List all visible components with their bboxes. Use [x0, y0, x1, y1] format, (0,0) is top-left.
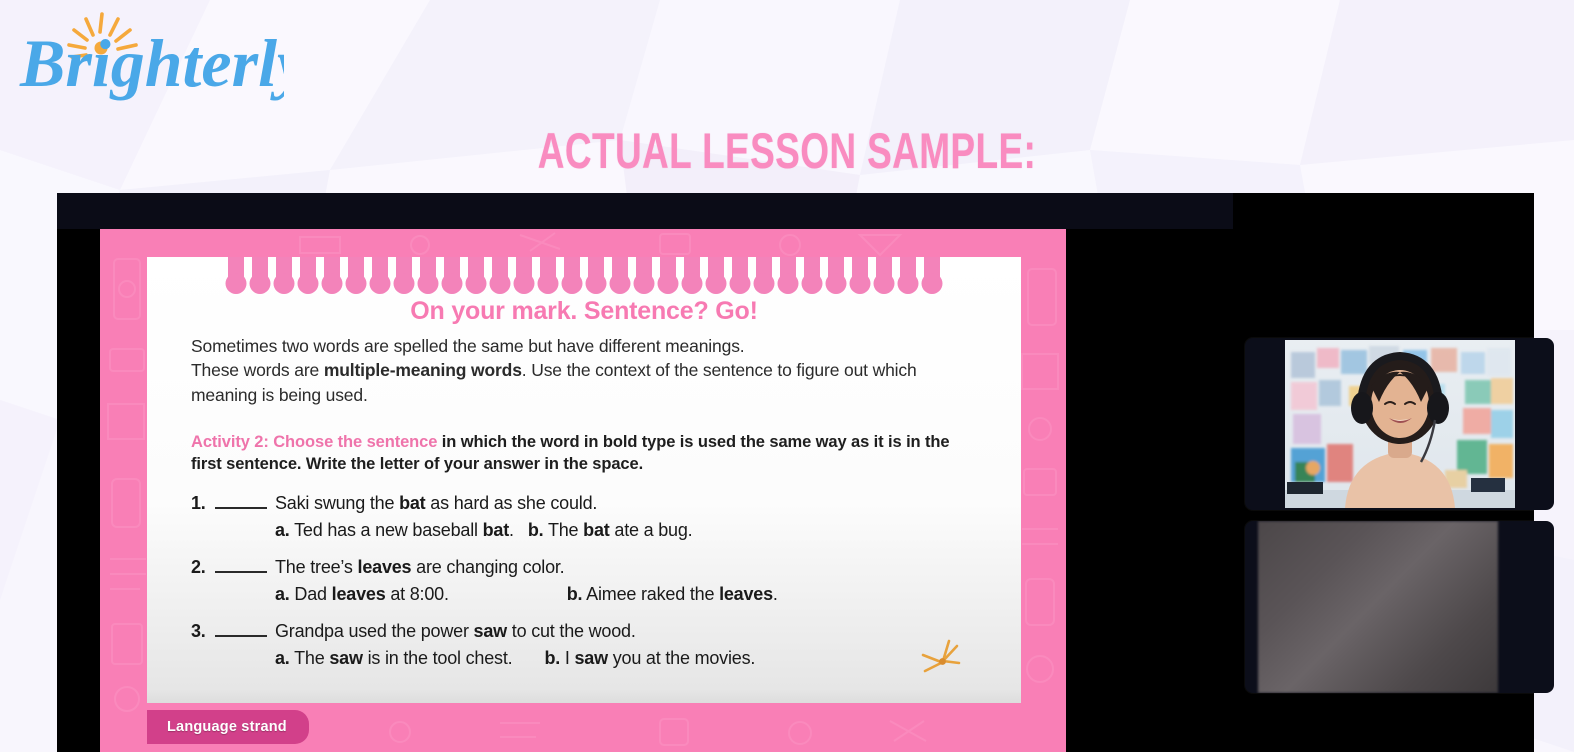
spiral-ring — [300, 257, 316, 291]
answer-blank[interactable] — [215, 495, 267, 509]
choice-gap — [512, 648, 544, 669]
question-item: 1. Saki swung the bat as hard as she cou… — [191, 493, 977, 541]
choice-a[interactable]: a. Ted has a new baseball bat. — [275, 520, 514, 541]
spiral-binding — [147, 257, 1021, 293]
spiral-ring — [852, 257, 868, 291]
question-number: 2. — [191, 557, 215, 578]
spiral-ring — [276, 257, 292, 291]
question-list: 1. Saki swung the bat as hard as she cou… — [191, 493, 977, 669]
screen-share-top-band — [57, 193, 1233, 229]
spiral-ring — [516, 257, 532, 291]
spiral-ring — [348, 257, 364, 291]
teacher-camera-tile[interactable] — [1245, 338, 1554, 510]
intro-line-2: These words are multiple-meaning words. … — [191, 358, 977, 407]
spiral-ring — [732, 257, 748, 291]
spiral-ring — [420, 257, 436, 291]
spiral-ring — [252, 257, 268, 291]
worksheet-intro: Sometimes two words are spelled the same… — [191, 334, 977, 407]
question-item: 3. Grandpa used the power saw to cut the… — [191, 621, 977, 669]
spiral-ring — [684, 257, 700, 291]
spiral-ring — [540, 257, 556, 291]
question-number: 1. — [191, 493, 215, 514]
spiral-ring — [228, 257, 244, 291]
spiral-ring — [756, 257, 772, 291]
question-prompt: 3. Grandpa used the power saw to cut the… — [191, 621, 977, 642]
spiral-ring — [828, 257, 844, 291]
spiral-ring — [708, 257, 724, 291]
spiral-ring — [468, 257, 484, 291]
sparkle-burst-icon — [917, 637, 963, 681]
activity-label: Activity 2: Choose the sentence — [191, 433, 437, 451]
question-item: 2. The tree’s leaves are changing color.… — [191, 557, 977, 605]
spiral-ring — [636, 257, 652, 291]
spiral-ring — [492, 257, 508, 291]
spiral-ring — [900, 257, 916, 291]
question-number: 3. — [191, 621, 215, 642]
question-choices: a. The saw is in the tool chest. b. I sa… — [275, 648, 977, 669]
choice-a[interactable]: a. Dad leaves at 8:00. — [275, 584, 449, 605]
spiral-ring — [372, 257, 388, 291]
teacher-video — [1285, 340, 1515, 508]
choice-gap — [449, 584, 567, 605]
spiral-ring — [924, 257, 940, 291]
question-choices: a. Ted has a new baseball bat. b. The ba… — [275, 520, 977, 541]
question-prompt: 1. Saki swung the bat as hard as she cou… — [191, 493, 977, 514]
brighterly-logo[interactable]: Brighterly — [14, 4, 284, 104]
spiral-ring — [660, 257, 676, 291]
intro-line-1: Sometimes two words are spelled the same… — [191, 334, 977, 358]
spiral-ring — [780, 257, 796, 291]
choice-b[interactable]: b. Aimee raked the leaves. — [567, 584, 778, 605]
spiral-ring — [588, 257, 604, 291]
logo-wordmark: Brighterly — [19, 25, 284, 101]
choice-b[interactable]: b. I saw you at the movies. — [544, 648, 755, 669]
worksheet-title: On your mark. Sentence? Go! — [191, 297, 977, 326]
spiral-ring — [324, 257, 340, 291]
activity-instructions: Activity 2: Choose the sentence in which… — [191, 431, 959, 475]
answer-blank[interactable] — [215, 559, 267, 573]
spiral-ring — [444, 257, 460, 291]
worksheet-page: On your mark. Sentence? Go! Sometimes tw… — [100, 229, 1066, 752]
choice-b[interactable]: b. The bat ate a bug. — [528, 520, 693, 541]
spiral-ring — [612, 257, 628, 291]
question-choices: a. Dad leaves at 8:00. b. Aimee raked th… — [275, 584, 977, 605]
spiral-ring — [396, 257, 412, 291]
student-camera-tile[interactable] — [1245, 521, 1554, 693]
choice-gap — [514, 520, 528, 541]
spiral-ring — [804, 257, 820, 291]
spiral-ring — [564, 257, 580, 291]
answer-blank[interactable] — [215, 623, 267, 637]
status-badge: Language strand — [147, 710, 309, 744]
choice-a[interactable]: a. The saw is in the tool chest. — [275, 648, 512, 669]
question-prompt: 2. The tree’s leaves are changing color. — [191, 557, 977, 578]
student-video — [1258, 521, 1498, 693]
worksheet-card: On your mark. Sentence? Go! Sometimes tw… — [147, 257, 1021, 703]
spiral-ring — [876, 257, 892, 291]
page-title: ACTUAL LESSON SAMPLE: — [205, 126, 1370, 177]
